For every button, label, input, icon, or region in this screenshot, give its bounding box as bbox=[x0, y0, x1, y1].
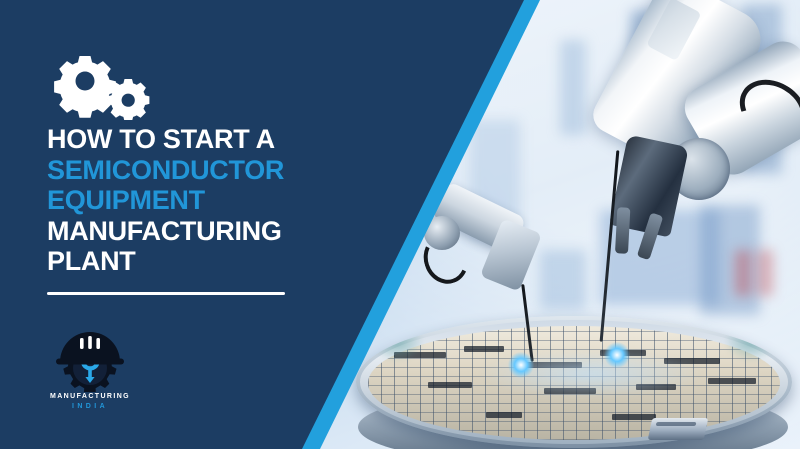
logo-mark bbox=[38, 324, 142, 392]
title-divider bbox=[47, 292, 285, 295]
fab-component bbox=[648, 418, 709, 440]
wafer-edge-glow bbox=[724, 322, 778, 362]
logo-name: MANUFACTURING bbox=[38, 393, 142, 400]
blue-spark bbox=[508, 352, 534, 378]
probe-head bbox=[418, 188, 578, 348]
headline-line-1: HOW TO START A bbox=[47, 124, 275, 154]
headline-line-3: EQUIPMENT bbox=[47, 185, 205, 215]
logo[interactable]: MANUFACTURING INDIA bbox=[38, 324, 142, 422]
wafer-die bbox=[708, 378, 756, 384]
robotic-arm bbox=[560, 0, 800, 250]
background-blur-bar bbox=[735, 250, 751, 296]
hardhat-icon bbox=[56, 332, 124, 365]
blue-spark bbox=[604, 342, 630, 368]
background-blur-bar bbox=[757, 250, 773, 296]
wafer-die bbox=[486, 412, 522, 418]
logo-subtitle: INDIA bbox=[38, 403, 142, 410]
headline-line-5: PLANT bbox=[47, 246, 136, 276]
wafer-die bbox=[612, 414, 656, 420]
headline-line-2: SEMICONDUCTOR bbox=[47, 155, 284, 185]
headline-line-4: MANUFACTURING bbox=[47, 216, 282, 246]
wafer-die bbox=[428, 382, 472, 388]
banner: HOW TO START A SEMICONDUCTOR EQUIPMENT M… bbox=[0, 0, 800, 449]
page-title: HOW TO START A SEMICONDUCTOR EQUIPMENT M… bbox=[47, 124, 337, 277]
gears-icon bbox=[45, 52, 155, 120]
robotic-arm-gripper bbox=[609, 135, 689, 238]
